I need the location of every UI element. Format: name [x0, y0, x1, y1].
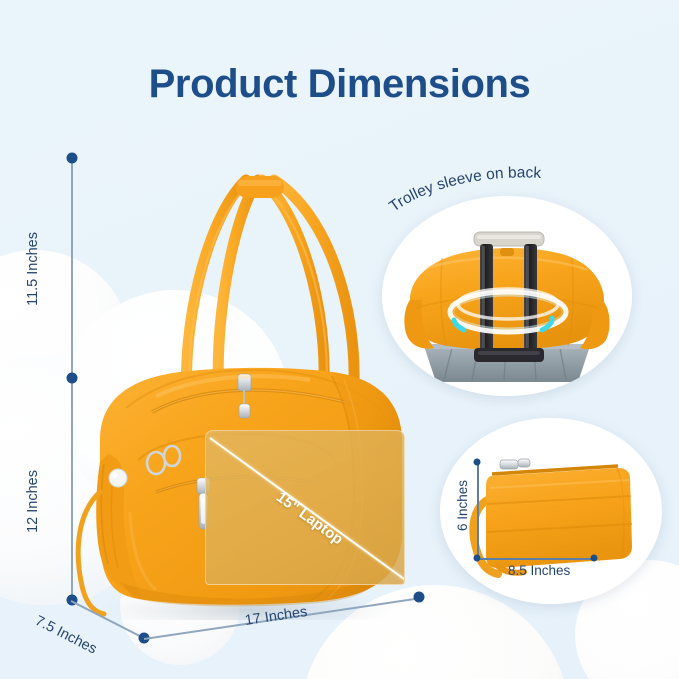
pouch-dimension-dot — [474, 555, 481, 562]
pouch-dimension-dot — [474, 459, 481, 466]
dimension-endpoint-dot — [66, 373, 77, 384]
pouch-height-line — [477, 462, 479, 559]
pouch-width-label: 8.5 Inches — [508, 563, 570, 578]
pouch-width-line — [477, 558, 594, 560]
height-label-upper: 11.5 Inches — [25, 232, 41, 306]
height-label-lower: 12 Inches — [25, 470, 41, 533]
dimension-endpoint-dot — [414, 592, 425, 603]
dimension-endpoint-dot — [66, 153, 77, 164]
infographic-canvas: Product Dimensions — [0, 0, 679, 679]
pouch-dimension-dot — [591, 555, 598, 562]
page-title: Product Dimensions — [0, 62, 679, 107]
trolley-sleeve-callout — [382, 196, 632, 396]
pouch-body — [486, 468, 632, 568]
pouch-height-label: 6 Inches — [455, 480, 470, 531]
